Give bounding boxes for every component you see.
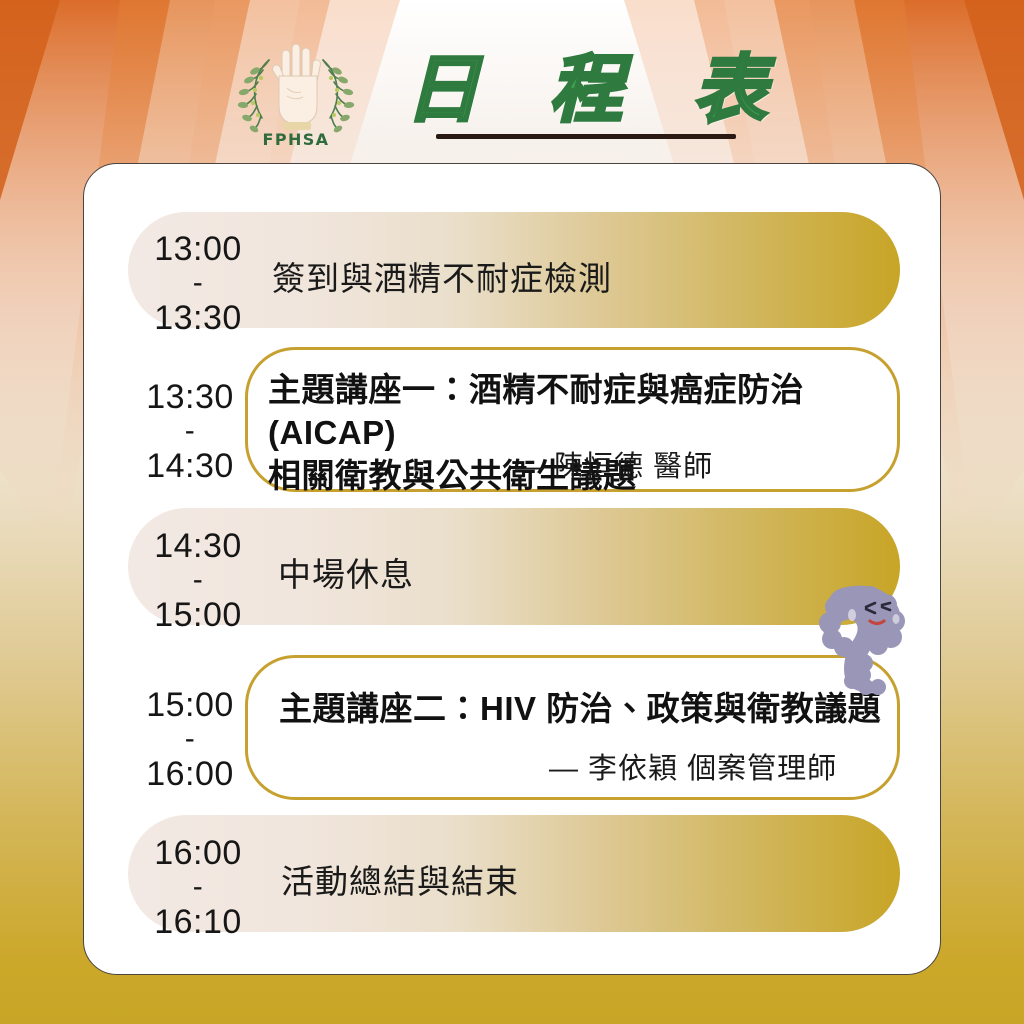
table-row: 13:00 - 13:30 簽到與酒精不耐症檢測 (0, 212, 1024, 328)
row-content: 活動總結與結束 (281, 855, 519, 903)
schedule-poster: FPHSA 日 程 表 13:00 - 13:30 簽到與酒精不耐症檢測 13:… (0, 0, 1024, 1024)
row-speaker: — 陳恒德 醫師 (515, 443, 713, 485)
row-time-dash: - (118, 873, 278, 902)
title-underline (436, 134, 736, 139)
row-speaker: — 李依穎 個案管理師 (549, 745, 837, 787)
row-time: 13:30 - 14:30 (110, 377, 270, 486)
row-time-start: 15:00 (146, 686, 234, 724)
schedule-list: 13:00 - 13:30 簽到與酒精不耐症檢測 13:30 - 14:30 主… (0, 163, 1024, 975)
row-time: 15:00 - 16:00 (110, 685, 270, 794)
row-time: 13:00 - 13:30 (118, 229, 278, 338)
row-time-dash: - (110, 417, 270, 446)
row-time-end: 13:30 (154, 299, 242, 337)
table-row: 13:30 - 14:30 主題講座一：酒精不耐症與癌症防治 (AICAP) 相… (0, 347, 1024, 492)
poster-header: FPHSA 日 程 表 (0, 34, 1024, 154)
title-block: 日 程 表 (383, 49, 789, 139)
row-content: 簽到與酒精不耐症檢測 (272, 252, 612, 300)
row-time-start: 13:00 (154, 230, 242, 268)
page-title: 日 程 表 (383, 53, 789, 128)
row-content-line-1: 主題講座一：酒精不耐症與癌症防治 (AICAP) (268, 369, 908, 455)
row-time-dash: - (110, 725, 270, 754)
row-time-start: 13:30 (146, 378, 234, 416)
row-content: 主題講座二：HIV 防治、政策與衛教議題 (279, 688, 881, 731)
row-time-dash: - (118, 566, 278, 595)
svg-text:FPHSA: FPHSA (263, 130, 330, 149)
fphsa-logo: FPHSA (235, 38, 357, 150)
row-time-start: 16:00 (154, 834, 242, 872)
row-time-end: 16:00 (146, 755, 234, 793)
row-time: 16:00 - 16:10 (118, 833, 278, 942)
table-row: 16:00 - 16:10 活動總結與結束 (0, 815, 1024, 932)
row-time-start: 14:30 (154, 527, 242, 565)
row-time-end: 16:10 (154, 903, 242, 941)
row-time-end: 14:30 (146, 447, 234, 485)
intestine-character-icon (806, 579, 916, 699)
row-time: 14:30 - 15:00 (118, 526, 278, 635)
row-time-dash: - (118, 269, 278, 298)
row-time-end: 15:00 (154, 596, 242, 634)
row-content: 中場休息 (278, 548, 414, 596)
